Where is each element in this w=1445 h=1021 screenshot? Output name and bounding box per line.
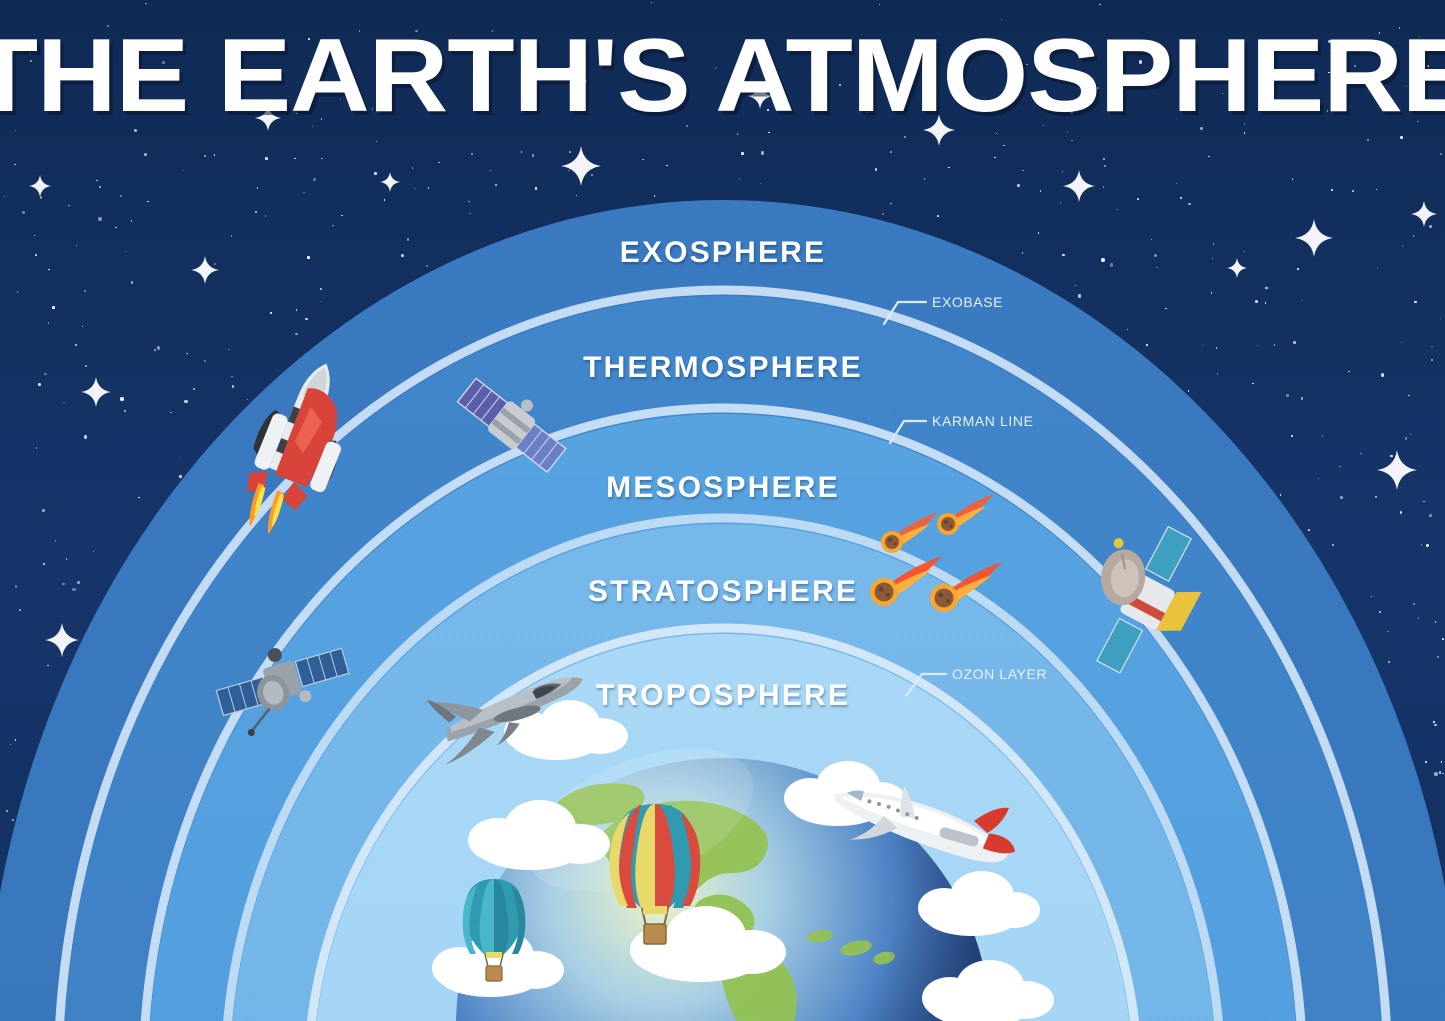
- hot-air-balloon-icon: [600, 800, 710, 950]
- cloud: [922, 960, 1054, 1021]
- airliner-icon: [818, 780, 1018, 890]
- fighter-jet-icon: [418, 650, 598, 770]
- page-title: THE EARTH'S ATMOSPHERE: [0, 24, 1445, 128]
- cloud-group: [0, 0, 1445, 1021]
- satellite-icon: [1082, 524, 1222, 684]
- satellite-icon: [212, 620, 352, 740]
- layer-label-thermosphere: THERMOSPHERE: [583, 351, 863, 385]
- poster-root: THE EARTH'S ATMOSPHERE EXOSPHERE THERMOS…: [0, 0, 1445, 1021]
- layer-label-stratosphere: STRATOSPHERE: [588, 575, 858, 609]
- layer-label-mesosphere: MESOSPHERE: [606, 471, 840, 505]
- meteor-shower-icon: [856, 490, 1016, 630]
- annotation-ozon-layer: OZON LAYER: [952, 666, 1047, 682]
- satellite-icon: [448, 358, 574, 494]
- layer-label-exosphere: EXOSPHERE: [620, 236, 827, 270]
- hot-air-balloon-icon: [455, 876, 533, 988]
- rocket-icon: [236, 350, 366, 540]
- annotation-exobase: EXOBASE: [932, 294, 1003, 310]
- annotation-karman-line: KARMAN LINE: [932, 413, 1034, 429]
- cloud: [468, 800, 610, 870]
- layer-label-troposphere: TROPOSPHERE: [596, 679, 850, 713]
